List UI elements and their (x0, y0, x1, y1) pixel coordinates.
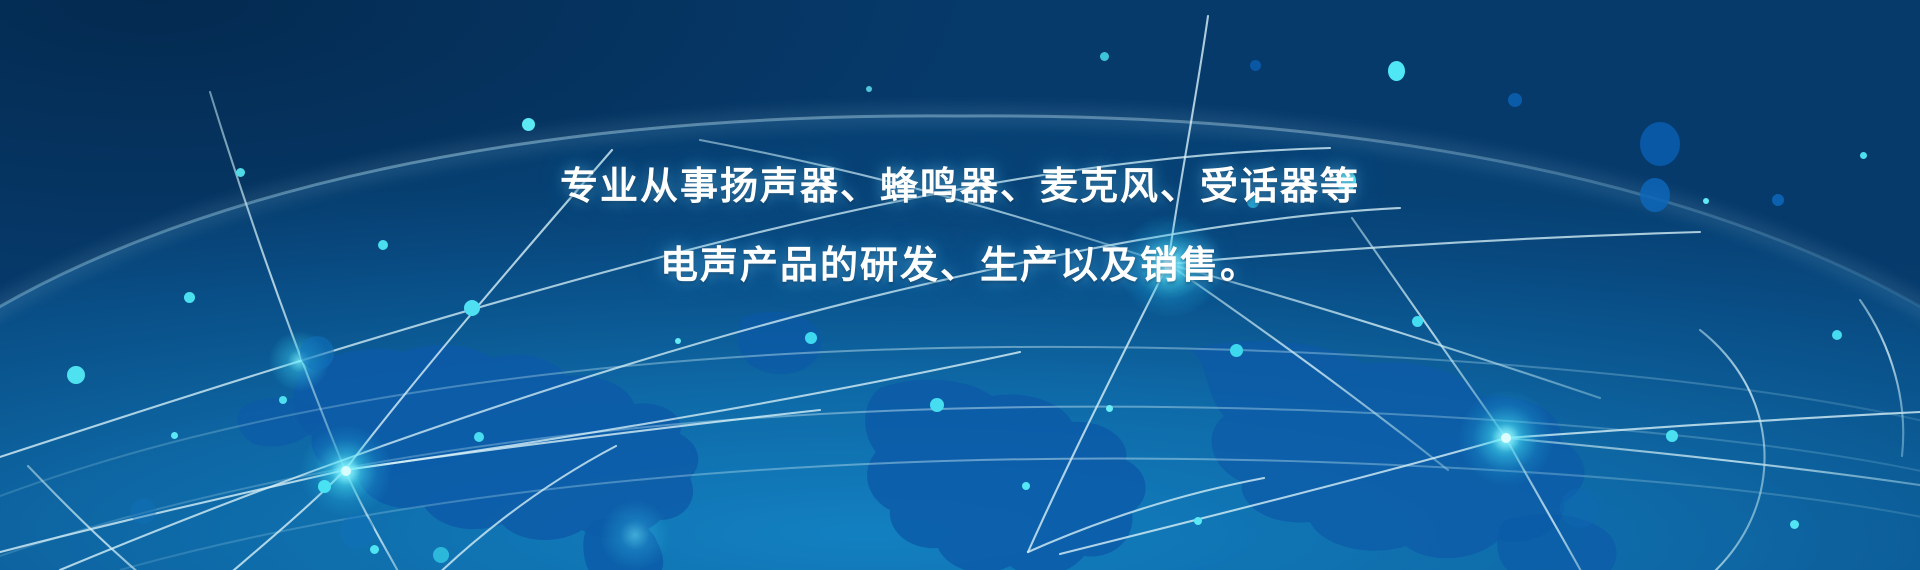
accent-dot (184, 292, 195, 303)
accent-dot (1860, 152, 1867, 159)
accent-dot-deep (1640, 178, 1670, 212)
accent-dot-deep (1772, 194, 1784, 206)
accent-dot (1336, 170, 1356, 192)
accent-dot (930, 398, 944, 412)
accent-dot (1790, 520, 1799, 529)
accent-dot (474, 432, 484, 442)
accent-dot-deep (1508, 93, 1522, 107)
accent-dot (1106, 405, 1113, 412)
globe-network-graphic (0, 0, 1920, 570)
accent-dot (236, 168, 245, 177)
accent-dot (433, 547, 449, 563)
network-node-right (1501, 433, 1511, 443)
accent-dot (1703, 198, 1709, 204)
accent-dot-deep (340, 514, 374, 548)
accent-dot (522, 118, 535, 131)
accent-dot-deep (1560, 488, 1600, 528)
accent-dot (675, 338, 681, 344)
accent-dot-deep (1250, 60, 1261, 71)
accent-dot-deep (1640, 122, 1680, 166)
accent-dot-deep (300, 336, 334, 370)
accent-dot (1412, 316, 1423, 327)
accent-dot (1247, 196, 1259, 208)
accent-dot (866, 86, 872, 92)
accent-dot (464, 300, 480, 316)
globe-svg (0, 0, 1920, 570)
accent-dot (805, 332, 817, 344)
accent-dot (1666, 430, 1678, 442)
accent-dot (1022, 482, 1030, 490)
accent-dot (1194, 517, 1202, 525)
accent-dot (1832, 330, 1842, 340)
accent-dot (171, 432, 178, 439)
network-node-center-right (1163, 259, 1174, 270)
accent-dot (67, 366, 85, 384)
accent-dot (1230, 344, 1243, 357)
network-node-left (341, 466, 351, 476)
accent-dot (370, 545, 379, 554)
accent-dot (378, 240, 388, 250)
accent-dot (1388, 61, 1405, 81)
accent-dot (318, 480, 331, 493)
accent-dot-deep (130, 498, 156, 524)
hero-banner: 专业从事扬声器、蜂鸣器、麦克风、受话器等 电声产品的研发、生产以及销售。 (0, 0, 1920, 570)
accent-dot (279, 396, 287, 404)
accent-dot (1100, 52, 1109, 61)
